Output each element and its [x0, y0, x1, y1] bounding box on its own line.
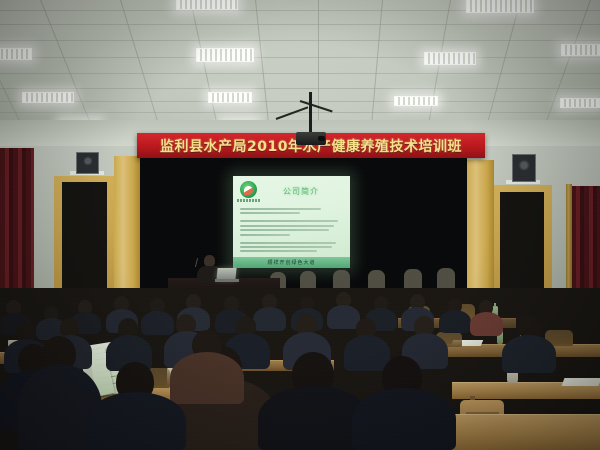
ceiling-light-panel [22, 92, 74, 103]
wall-speaker-icon [512, 154, 536, 182]
ceiling-tile-line [0, 88, 600, 89]
stage-chair [368, 270, 385, 290]
slide-body-text [240, 208, 344, 255]
laptop-base [215, 279, 239, 282]
ceiling-light-panel [0, 48, 32, 60]
ceiling-light-panel [394, 96, 438, 106]
stage-chair [333, 270, 350, 290]
stage-chair [404, 269, 422, 290]
wall-speaker-icon [76, 152, 99, 174]
ceiling-light-panel [208, 92, 252, 103]
ceiling-light-panel [424, 52, 476, 65]
ceiling-tile-line [0, 24, 600, 25]
meeting-room-photo: 监利县水产局2010年水产健康养殖技术培训班 公司简介 顺祥开创绿色大道 [0, 0, 600, 450]
slide-footer-text: 顺祥开创绿色大道 [267, 259, 315, 266]
slide-title: 公司简介 [283, 186, 319, 197]
ceiling-light-panel [176, 0, 238, 10]
ceiling-tile-line [0, 112, 600, 113]
ceiling-tile-line [0, 73, 600, 74]
projector-pole [309, 92, 312, 134]
logo-caption [237, 199, 260, 202]
paper-sheet [562, 378, 600, 386]
stage-chair [437, 268, 455, 290]
slide-footer-bar: 顺祥开创绿色大道 [233, 257, 350, 268]
ceiling-light-panel [196, 48, 254, 62]
ceiling-light-panel [561, 44, 600, 56]
ceiling-light-panel [466, 0, 534, 13]
projection-screen: 公司简介 顺祥开创绿色大道 [233, 176, 350, 268]
ceiling-grid-line [318, 0, 319, 132]
suspended-ceiling [0, 0, 600, 132]
projector-lens-icon [318, 136, 325, 141]
green-circular-company-logo [240, 181, 257, 198]
ceiling-light-panel [560, 98, 600, 108]
ceiling-tile-line [0, 57, 600, 58]
